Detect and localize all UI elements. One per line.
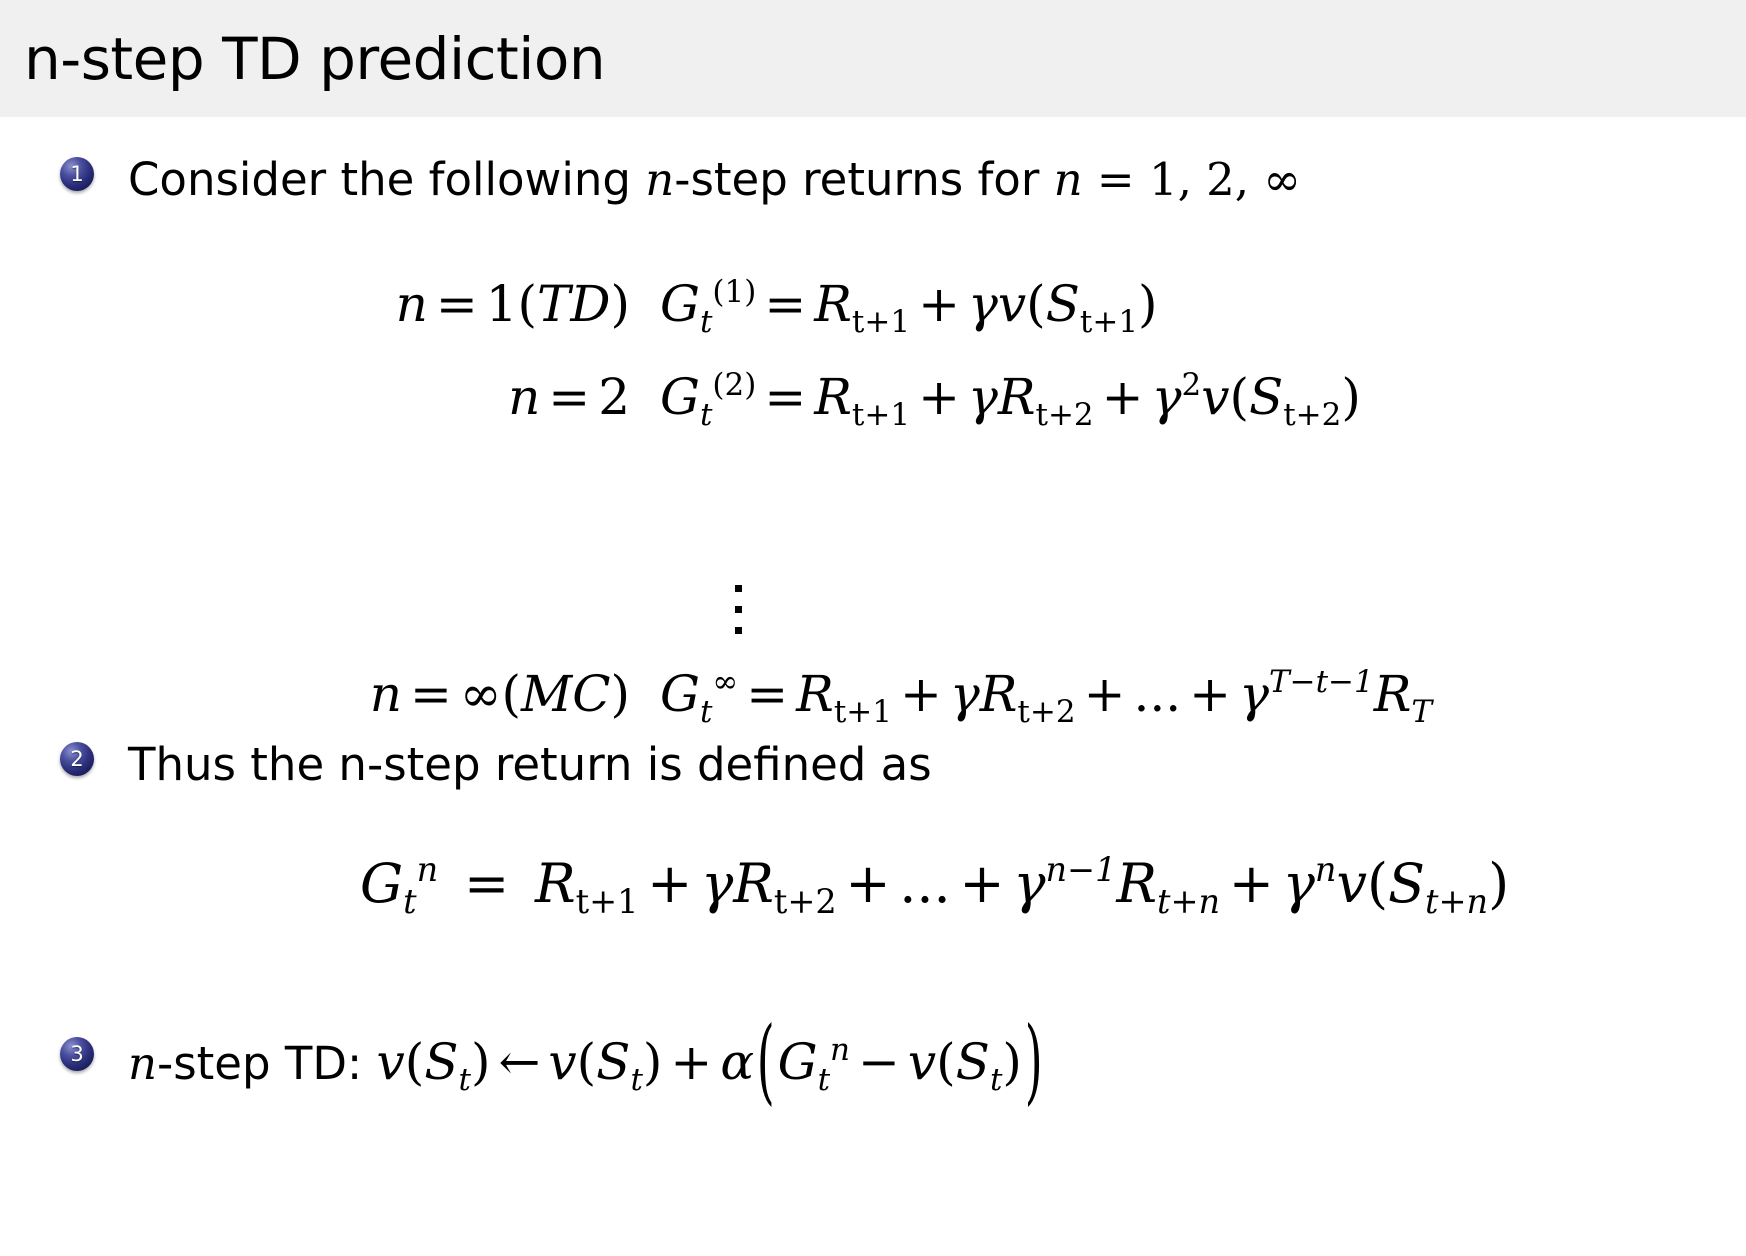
list-item-3: 3 n-step TD: v(St)←v(St)+α(Gtn−v(St)) [60,1037,1045,1087]
eq-row-3-case: n=∞(MC) [270,665,630,723]
bullet1-text-n2: n [1054,153,1083,206]
vdots-dot-1 [735,585,742,592]
bullet1-text-c: = 1, 2, ∞ [1083,153,1301,206]
bullet3-step-td: -step TD: [157,1037,377,1090]
list-item-3-label: n-step TD: v(St)←v(St)+α(Gtn−v(St)) [128,1037,1045,1087]
eq-row-3-expression: Gt∞=Rt+1+γRt+2+...+γT−t−1RT [660,665,1432,723]
list-item-1-label: Consider the following n-step returns fo… [128,157,1301,202]
n-step-td-update-equation: v(St)←v(St)+α(Gtn−v(St)) [376,1033,1045,1091]
vertical-ellipsis [735,585,742,648]
bullet-marker-2: 2 [60,742,94,776]
eq-row-2-expression: Gt(2)=Rt+1+γRt+2+γ2v(St+2) [660,368,1361,426]
bullet3-n: n [128,1037,157,1090]
bullet-marker-3: 3 [60,1037,94,1071]
n-step-return-equation: Gtn = Rt+1+γRt+2+...+γn−1Rt+n+γnv(St+n) [360,852,1509,915]
eq-row-1-expression: Gt(1)=Rt+1+γv(St+1) [660,275,1158,333]
bullet-marker-1: 1 [60,157,94,191]
bullet1-text-b: -step returns for [674,153,1053,206]
open-paren-large: ( [755,1015,777,1108]
list-item-1: 1 Consider the following n-step returns … [60,157,1301,202]
page-title: n-step TD prediction [24,30,605,88]
eq-row-2-case: n=2 [300,368,630,426]
bullet1-text-a: Consider the following [128,153,645,206]
list-item-2: 2 Thus the n-step return is defined as [60,742,932,787]
vdots-dot-3 [735,627,742,634]
bullet1-text-n1: n [645,153,674,206]
eq-row-1-case: n=1(TD) [300,275,630,333]
slide-body: 1 Consider the following n-step returns … [0,117,1746,1256]
close-paren-large: ) [1023,1015,1045,1108]
vdots-dot-2 [735,606,742,613]
slide-title-bar: n-step TD prediction [0,0,1746,117]
list-item-2-label: Thus the n-step return is defined as [128,742,932,787]
